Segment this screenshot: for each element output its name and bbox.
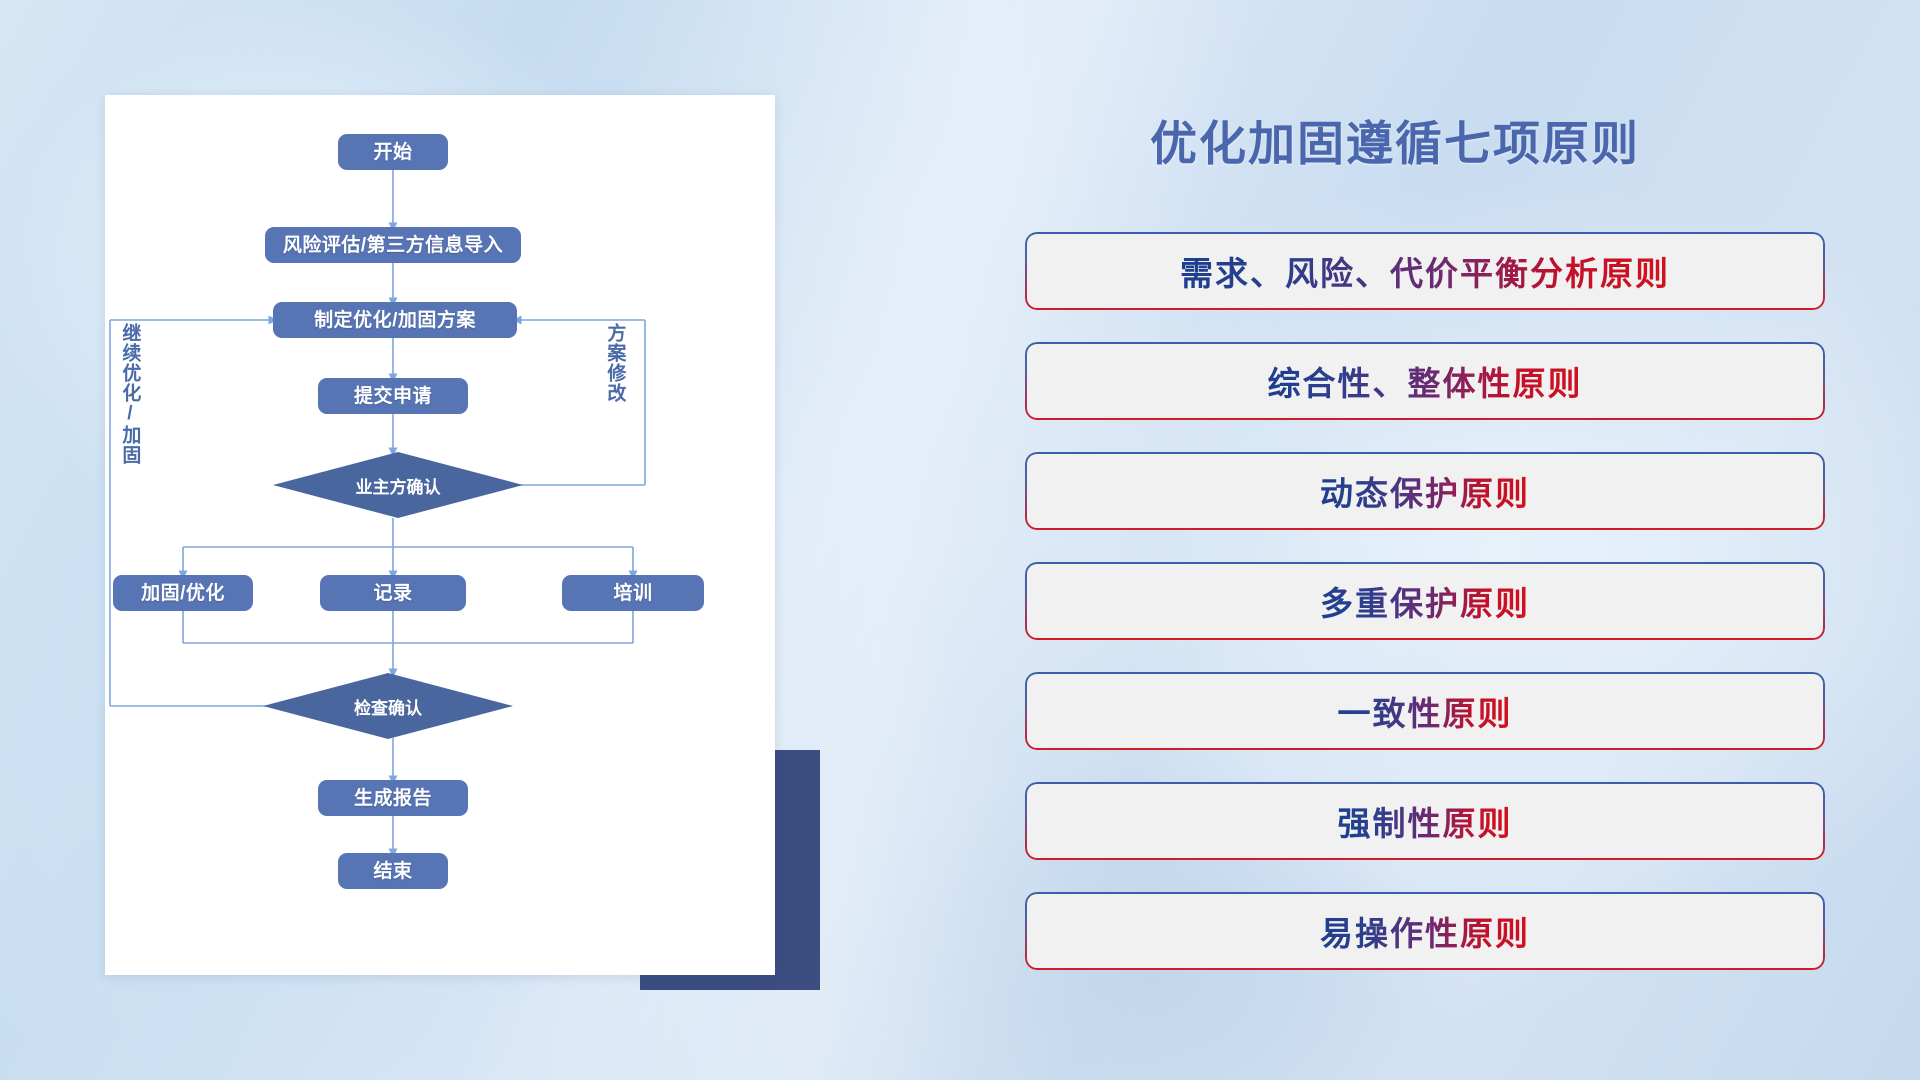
flowchart-card: 开始 风险评估/第三方信息导入 制定优化/加固方案 提交申请 业主方确认 加固/… [105,95,775,975]
flow-node-record-label: 记录 [373,584,412,603]
flow-node-report[interactable]: 生成报告 [318,780,468,816]
flow-node-end-label: 结束 [373,862,412,881]
principle-card-1[interactable]: 需求、风险、代价平衡分析原则 [1025,232,1825,310]
flow-node-owner-confirm-label: 业主方确认 [356,473,441,498]
principle-card-5[interactable]: 一致性原则 [1025,672,1825,750]
principle-label-5: 一致性原则 [1338,687,1513,735]
principle-label-7: 易操作性原则 [1320,907,1530,955]
flow-node-submit-label: 提交申请 [354,387,432,406]
flow-node-record[interactable]: 记录 [320,575,466,611]
flow-node-submit[interactable]: 提交申请 [318,378,468,414]
principle-card-6[interactable]: 强制性原则 [1025,782,1825,860]
principle-card-7[interactable]: 易操作性原则 [1025,892,1825,970]
principle-label-3: 动态保护原则 [1320,467,1530,515]
flow-node-report-label: 生成报告 [354,789,432,808]
flow-node-plan-label: 制定优化/加固方案 [314,311,476,330]
flow-node-reinforce[interactable]: 加固/优化 [113,575,253,611]
principles-pane: 优化加固遵循七项原则 需求、风险、代价平衡分析原则 综合性、整体性原则 动态保护… [1010,0,1920,1080]
flow-node-start-label: 开始 [373,143,412,162]
principle-label-6: 强制性原则 [1338,797,1513,845]
principle-card-4[interactable]: 多重保护原则 [1025,562,1825,640]
flow-node-plan[interactable]: 制定优化/加固方案 [273,302,517,338]
flow-node-risk-assessment-label: 风险评估/第三方信息导入 [283,236,503,255]
flow-node-training[interactable]: 培训 [562,575,704,611]
flow-edge-label-right-loop: 方案修改 [605,323,624,403]
flow-node-training-label: 培训 [613,584,652,603]
flow-edge-label-left-loop: 继续优化/加固 [120,323,139,465]
principle-label-2: 综合性、整体性原则 [1268,357,1583,405]
principle-card-2[interactable]: 综合性、整体性原则 [1025,342,1825,420]
principles-list: 需求、风险、代价平衡分析原则 综合性、整体性原则 动态保护原则 多重保护原则 一… [1025,232,1825,1002]
page-title: 优化加固遵循七项原则 [1150,105,1640,174]
principle-label-1: 需求、风险、代价平衡分析原则 [1180,247,1670,295]
principle-label-4: 多重保护原则 [1320,577,1530,625]
flow-node-check-confirm-label: 检查确认 [354,694,422,719]
flow-node-risk-assessment[interactable]: 风险评估/第三方信息导入 [265,227,521,263]
principle-card-3[interactable]: 动态保护原则 [1025,452,1825,530]
flow-node-end[interactable]: 结束 [338,853,448,889]
flow-node-reinforce-label: 加固/优化 [141,584,225,603]
flow-node-start[interactable]: 开始 [338,134,448,170]
